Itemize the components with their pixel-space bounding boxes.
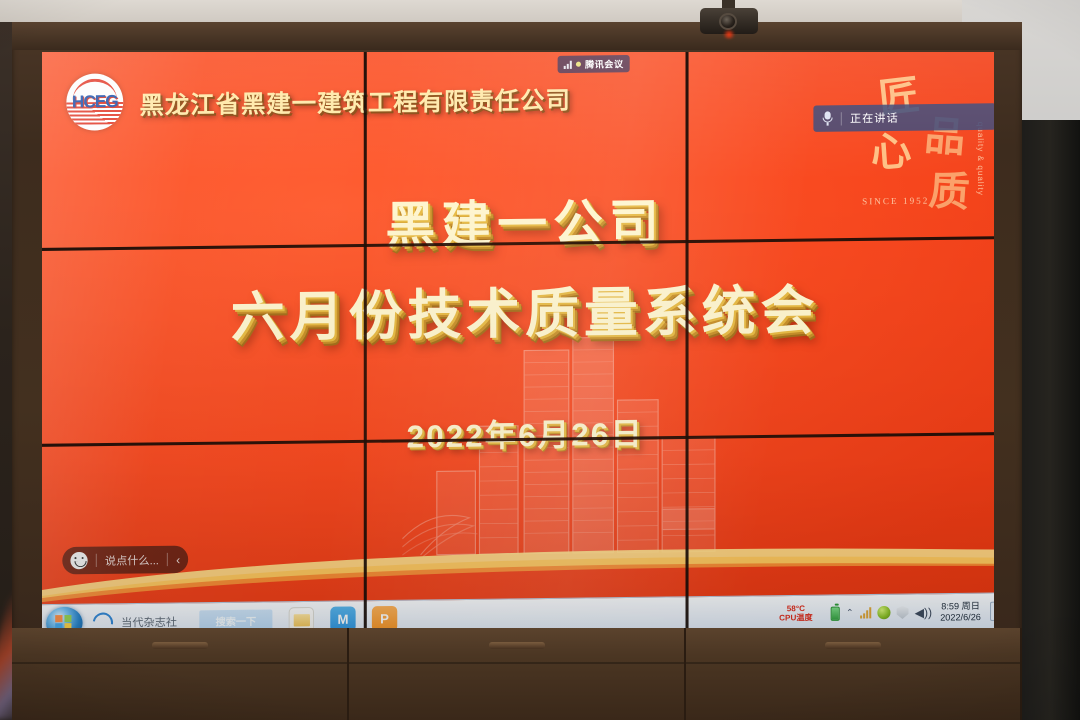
tencent-meeting-badge: 腾讯会议 — [558, 55, 630, 73]
divider — [96, 554, 97, 567]
volume-icon[interactable]: ◀)) — [915, 605, 932, 619]
camera-led-icon — [722, 30, 736, 39]
clock-time: 8:59 周日 — [941, 601, 980, 612]
doorway — [1020, 120, 1080, 720]
antivirus-icon[interactable] — [877, 606, 890, 619]
show-desktop-button[interactable] — [990, 602, 994, 621]
chat-input[interactable]: 说点什么... — [105, 551, 159, 568]
signal-bars-icon — [564, 60, 572, 68]
frame-top-beam — [12, 22, 1022, 50]
slide-title-main: 黑建一公司 — [42, 178, 994, 262]
cabinet-right[interactable] — [686, 628, 1022, 720]
cabinet-handle[interactable] — [489, 642, 545, 649]
company-logo: HCEG — [66, 73, 123, 131]
battery-icon[interactable] — [831, 606, 840, 620]
speaking-indicator: 正在讲话 — [813, 103, 994, 132]
cabinet-left[interactable] — [12, 628, 349, 720]
microphone-icon — [823, 111, 833, 125]
shield-icon[interactable] — [896, 606, 908, 619]
divider — [167, 553, 168, 566]
cpu-temp-label: CPU温度 — [779, 614, 812, 623]
clock-date: 2022/6/26 — [940, 611, 981, 622]
divider — [841, 112, 842, 125]
network-signal-icon[interactable] — [860, 607, 871, 618]
cpu-temperature-widget[interactable]: 58°C CPU温度 — [779, 605, 812, 622]
clock-widget[interactable]: 8:59 周日 2022/6/26 — [940, 601, 981, 622]
slide-date: 2022年6月26日 — [42, 404, 994, 461]
camera-lens — [719, 13, 737, 30]
system-tray[interactable]: 58°C CPU温度 ⌃ ◀)) 8:59 周日 2022/6/26 — [779, 593, 994, 631]
video-wall[interactable]: HCEG 黑龙江省黑建一建筑工程有限责任公司 腾讯会议 匠 心 品 质 qual… — [42, 52, 994, 632]
presentation-slide: HCEG 黑龙江省黑建一建筑工程有限责任公司 腾讯会议 匠 心 品 质 qual… — [42, 52, 994, 632]
chevron-left-icon[interactable]: ‹ — [176, 552, 180, 566]
logo-text: HCEG — [72, 92, 118, 113]
emoji-icon[interactable] — [70, 552, 87, 569]
cabinet-seam — [686, 662, 1020, 664]
speaking-status-label: 正在讲话 — [850, 110, 899, 127]
tencent-meeting-label: 腾讯会议 — [585, 57, 624, 71]
ceiling-camera-icon — [700, 0, 758, 40]
cabinet-center[interactable] — [349, 628, 686, 720]
windows-taskbar[interactable]: 当代杂志社 搜索一下 M P 58°C CPU温度 ⌃ — [42, 592, 994, 632]
search-label: 搜索一下 — [216, 613, 257, 629]
cabinet-row — [12, 628, 1022, 720]
conference-room-scene: HCEG 黑龙江省黑建一建筑工程有限责任公司 腾讯会议 匠 心 品 质 qual… — [0, 0, 1080, 720]
cabinet-seam — [12, 662, 347, 664]
recording-dot-icon — [576, 62, 581, 67]
cabinet-handle[interactable] — [825, 642, 881, 649]
meeting-chat-bar[interactable]: 说点什么... ‹ — [62, 546, 188, 575]
cabinet-seam — [349, 662, 684, 664]
cabinet-handle[interactable] — [152, 642, 208, 649]
show-hidden-icons-caret[interactable]: ⌃ — [846, 607, 854, 618]
company-name: 黑龙江省黑建一建筑工程有限责任公司 — [139, 80, 570, 121]
slide-title-sub: 六月份技术质量系统会 — [42, 266, 994, 355]
